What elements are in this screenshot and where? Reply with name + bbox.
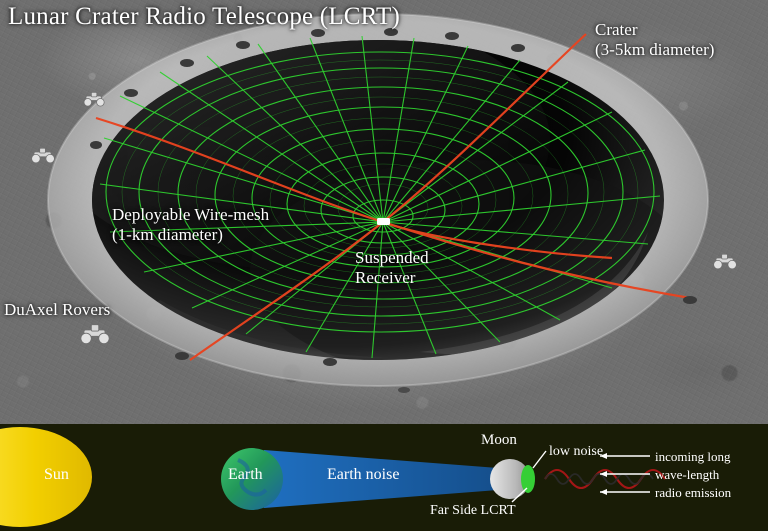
sun-label: Sun	[44, 466, 69, 484]
legend-line-1: incoming long	[655, 450, 730, 465]
page-title: Lunar Crater Radio Telescope (LCRT)	[8, 2, 400, 31]
suspended-receiver-label: Suspended Receiver	[355, 248, 429, 287]
moon-label: Moon	[481, 432, 517, 449]
legend-line-3: radio emission	[655, 486, 731, 501]
crater-label: Crater (3-5km diameter)	[595, 20, 714, 59]
duaxel-rovers-label: DuAxel Rovers	[4, 300, 110, 320]
lcrt-infographic: Lunar Crater Radio Telescope (LCRT) Crat…	[0, 0, 768, 531]
suspended-receiver-node	[377, 218, 390, 225]
wire-mesh-label: Deployable Wire-mesh (1-km diameter)	[112, 205, 269, 244]
earth-noise-label: Earth noise	[327, 466, 399, 484]
radio-wave-short	[545, 474, 653, 484]
low-noise-pointer	[533, 451, 546, 468]
legend-line-2: wave-length	[655, 468, 719, 483]
earth-label: Earth	[228, 466, 263, 484]
legend-arrows	[600, 453, 650, 495]
low-noise-label: low noise	[549, 444, 603, 460]
moon-surface-panel: Lunar Crater Radio Telescope (LCRT) Crat…	[0, 0, 768, 424]
far-side-lcrt-label: Far Side LCRT	[430, 503, 516, 519]
